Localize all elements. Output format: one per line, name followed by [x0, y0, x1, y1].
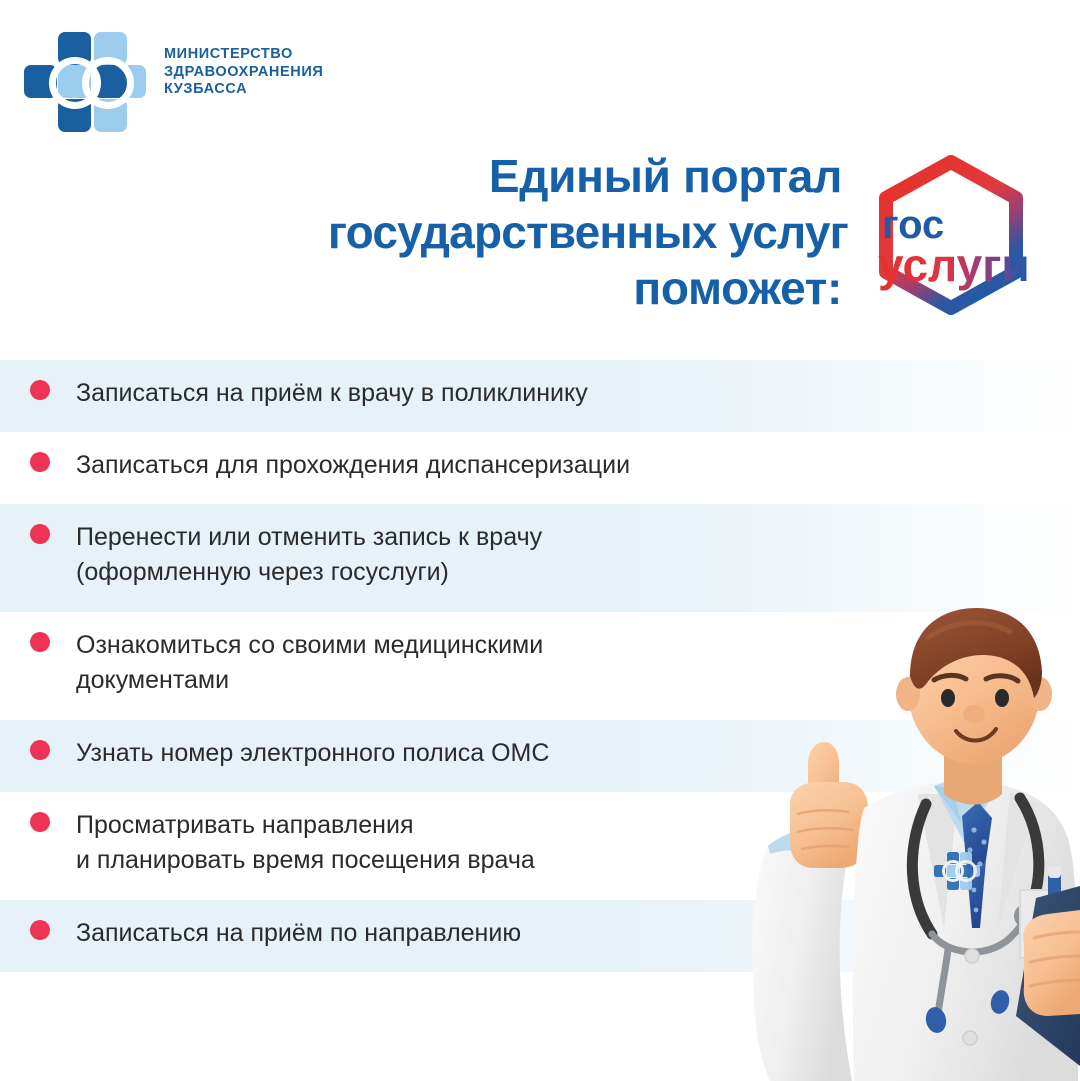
- service-item-line: Узнать номер электронного полиса ОМС: [76, 736, 549, 771]
- service-item: Записаться на приём по направлению: [0, 900, 1080, 972]
- service-item: Ознакомиться со своими медицинскимидокум…: [0, 612, 1080, 720]
- service-item: Записаться на приём к врачу в поликлиник…: [0, 360, 1080, 432]
- service-item-label: Записаться на приём к врачу в поликлиник…: [76, 376, 588, 411]
- service-item: Узнать номер электронного полиса ОМС: [0, 720, 1080, 792]
- bullet-icon: [30, 632, 50, 652]
- gosuslugi-hexagon-logo-icon: гос услуги: [856, 150, 1046, 340]
- service-item: Перенести или отменить запись к врачу(оф…: [0, 504, 1080, 612]
- ministry-logo: МИНИСТЕРСТВО ЗДРАВООХРАНЕНИЯ КУЗБАССА: [24, 32, 354, 136]
- title-line-1: Единый портал: [232, 148, 842, 204]
- service-item-line: (оформленную через госуслуги): [76, 555, 542, 590]
- service-item-label: Ознакомиться со своими медицинскимидокум…: [76, 628, 543, 698]
- bullet-icon: [30, 524, 50, 544]
- service-item: Просматривать направленияи планировать в…: [0, 792, 1080, 900]
- service-item-label: Перенести или отменить запись к врачу(оф…: [76, 520, 542, 590]
- service-item-line: Ознакомиться со своими медицинскими: [76, 628, 543, 663]
- service-item-line: Записаться на приём по направлению: [76, 916, 521, 951]
- bullet-icon: [30, 740, 50, 760]
- ministry-name-line-2: ЗДРАВООХРАНЕНИЯ: [164, 64, 323, 82]
- service-item-line: документами: [76, 663, 543, 698]
- bullet-icon: [30, 920, 50, 940]
- bullet-icon: [30, 380, 50, 400]
- service-item-line: Перенести или отменить запись к врачу: [76, 520, 542, 555]
- service-item-line: и планировать время посещения врача: [76, 843, 535, 878]
- service-item-line: Просматривать направления: [76, 808, 535, 843]
- bullet-icon: [30, 812, 50, 832]
- service-item-label: Узнать номер электронного полиса ОМС: [76, 736, 549, 771]
- service-item-label: Записаться для прохождения диспансеризац…: [76, 448, 630, 483]
- ministry-name-line-1: МИНИСТЕРСТВО: [164, 46, 323, 64]
- bullet-icon: [30, 452, 50, 472]
- ministry-logo-text: МИНИСТЕРСТВО ЗДРАВООХРАНЕНИЯ КУЗБАССА: [164, 46, 323, 99]
- services-list: Записаться на приём к врачу в поликлиник…: [0, 360, 1080, 972]
- title-line-3: поможет:: [232, 260, 842, 316]
- gosuslugi-word-bottom: услуги: [878, 239, 1030, 291]
- ministry-name-line-3: КУЗБАССА: [164, 81, 323, 99]
- service-item-label: Записаться на приём по направлению: [76, 916, 521, 951]
- title-line-2: государственных услуг: [238, 204, 848, 260]
- page-title: Единый портал государственных услуг помо…: [232, 148, 842, 316]
- service-item-line: Записаться для прохождения диспансеризац…: [76, 448, 630, 483]
- service-item-label: Просматривать направленияи планировать в…: [76, 808, 535, 878]
- medical-cross-logo-icon: [24, 32, 146, 132]
- service-item-line: Записаться на приём к врачу в поликлиник…: [76, 376, 588, 411]
- service-item: Записаться для прохождения диспансеризац…: [0, 432, 1080, 504]
